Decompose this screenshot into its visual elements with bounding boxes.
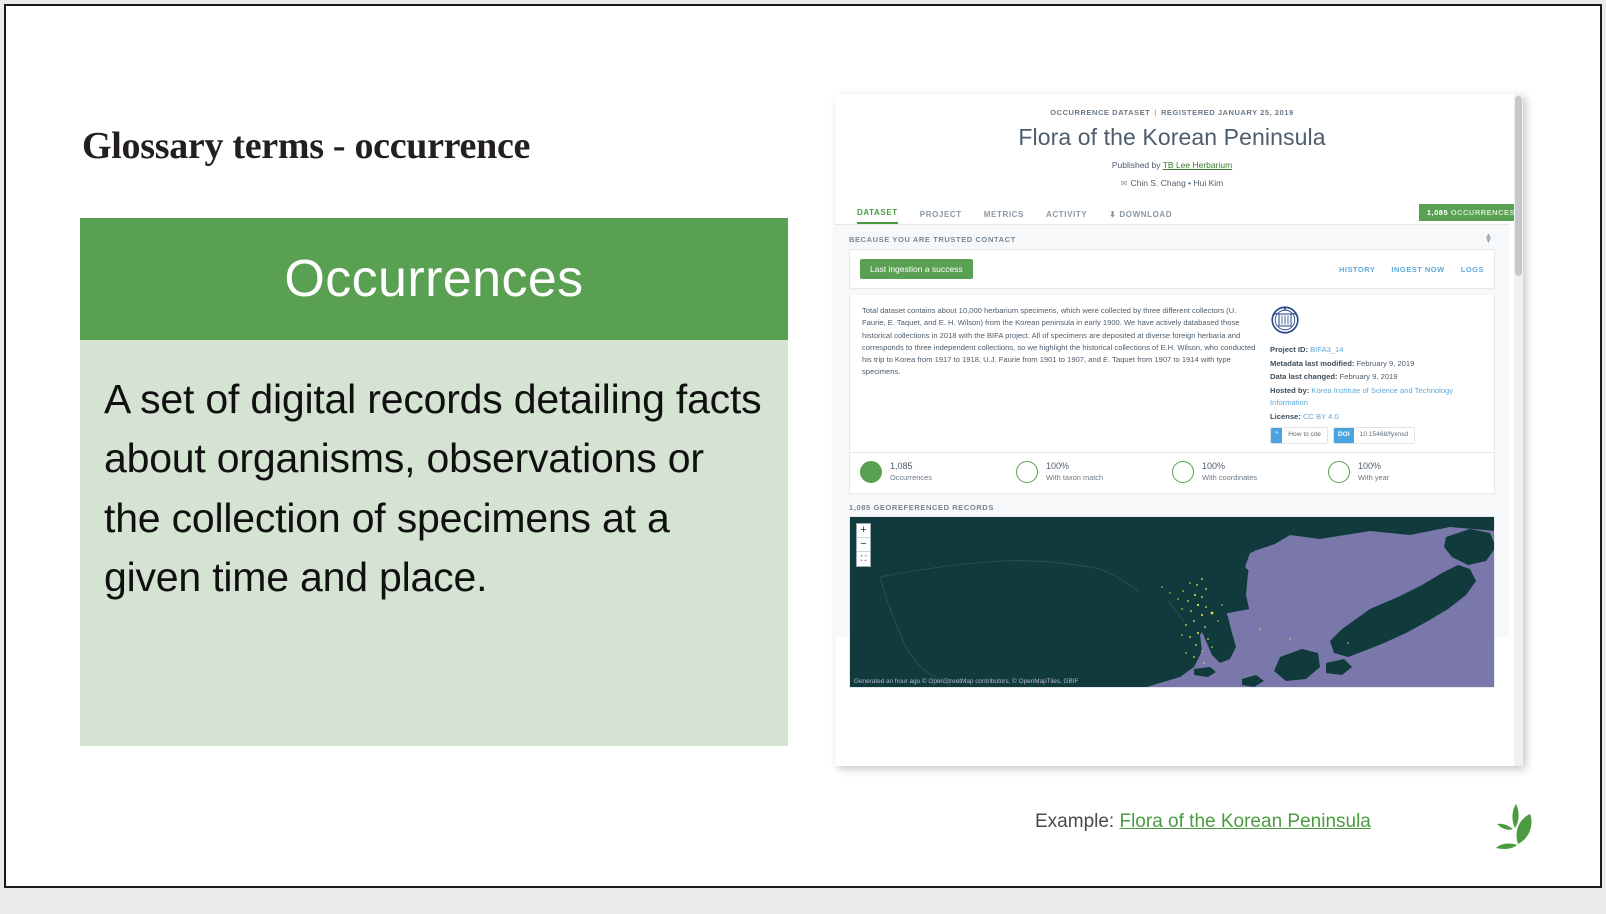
page-scrollbar[interactable] <box>1514 94 1523 766</box>
logs-button[interactable]: LOGS <box>1461 265 1484 274</box>
data-changed-value: February 9, 2019 <box>1340 372 1398 381</box>
dataset-metadata: Project ID: BIFA3_14 Metadata last modif… <box>1270 305 1482 444</box>
term-heading: Occurrences <box>284 249 583 309</box>
dataset-header: OCCURRENCE DATASET|REGISTERED JANUARY 25… <box>835 94 1509 188</box>
published-by-label: Published by <box>1112 160 1161 170</box>
example-caption: Example: Flora of the Korean Peninsula <box>1035 811 1371 833</box>
term-card-body: A set of digital records detailing facts… <box>80 340 788 746</box>
ingestion-status-pill: Last ingestion a success <box>860 259 973 279</box>
trusted-contact-label: BECAUSE YOU ARE TRUSTED CONTACT ▲▼ <box>849 235 1495 244</box>
stat-taxon-match: 100% With taxon match <box>1016 461 1172 483</box>
hosted-by-label: Hosted by: <box>1270 386 1309 395</box>
dataset-body: BECAUSE YOU ARE TRUSTED CONTACT ▲▼ Last … <box>835 225 1509 637</box>
project-id-label: Project ID: <box>1270 345 1308 354</box>
tab-activity[interactable]: ACTIVITY <box>1046 210 1087 224</box>
project-id-value[interactable]: BIFA3_14 <box>1310 345 1343 354</box>
metadata-modified-value: February 9, 2019 <box>1357 359 1415 368</box>
term-card-header: Occurrences <box>80 218 788 340</box>
doi-value: 10.15468/fyxnsd <box>1354 428 1414 442</box>
history-button[interactable]: HISTORY <box>1339 265 1375 274</box>
page-title: Glossary terms - occurrence <box>82 124 530 168</box>
how-to-cite-chip[interactable]: ” How to cite <box>1270 427 1328 443</box>
description-panel: Total dataset contains about 10,000 herb… <box>849 295 1495 453</box>
coordinates-gauge-icon <box>1172 461 1194 483</box>
quote-icon: ” <box>1271 428 1282 442</box>
contacts-line: ✉Chin S. Chang • Hui Kim <box>835 178 1509 188</box>
occurrence-count: 1,085 <box>1427 208 1448 217</box>
ingestion-panel: Last ingestion a success HISTORY INGEST … <box>849 249 1495 289</box>
occurrence-count-label: OCCURRENCES <box>1451 208 1515 217</box>
occurrences-gauge-icon <box>860 461 882 483</box>
publisher-link[interactable]: TB Lee Herbarium <box>1163 160 1232 170</box>
contact-names: Chin S. Chang • Hui Kim <box>1130 178 1223 188</box>
doi-tag: DOI <box>1334 428 1354 442</box>
stat-value: 100% <box>1202 461 1257 471</box>
gbif-leaf-logo <box>1484 798 1546 850</box>
stat-label: With coordinates <box>1202 473 1257 482</box>
dataset-tabbar: DATASET PROJECT METRICS ACTIVITY ⬇ DOWNL… <box>835 203 1509 225</box>
gbif-page: OCCURRENCE DATASET|REGISTERED JANUARY 25… <box>835 94 1509 766</box>
zoom-out-button[interactable]: − <box>857 538 870 552</box>
fullscreen-button[interactable]: ⛶ <box>857 552 870 566</box>
dataset-kicker: OCCURRENCE DATASET|REGISTERED JANUARY 25… <box>835 108 1509 117</box>
trusted-contact-text: BECAUSE YOU ARE TRUSTED CONTACT <box>849 235 1016 244</box>
tab-dataset[interactable]: DATASET <box>857 208 898 224</box>
kicker-separator: | <box>1154 108 1157 117</box>
data-changed-label: Data last changed: <box>1270 372 1338 381</box>
occurrence-count-badge[interactable]: 1,085 OCCURRENCES <box>1419 204 1523 221</box>
license-label: License: <box>1270 412 1301 421</box>
scrollbar-thumb[interactable] <box>1515 96 1522 276</box>
taxon-match-gauge-icon <box>1016 461 1038 483</box>
statistics-panel: 1,085 Occurrences 100% With taxon match <box>849 453 1495 494</box>
ingest-now-button[interactable]: INGEST NOW <box>1391 265 1444 274</box>
how-to-cite-label: How to cite <box>1282 428 1327 442</box>
map-attribution: Generated an hour ago © OpenStreetMap co… <box>854 678 1078 685</box>
stat-value: 100% <box>1046 461 1103 471</box>
example-label: Example: <box>1035 811 1114 832</box>
tab-download[interactable]: ⬇ DOWNLOAD <box>1109 210 1172 224</box>
ingestion-actions: HISTORY INGEST NOW LOGS <box>1339 265 1484 274</box>
data-changed-row: Data last changed: February 9, 2019 <box>1270 371 1482 383</box>
license-value[interactable]: CC BY 4.0 <box>1303 412 1339 421</box>
dataset-title: Flora of the Korean Peninsula <box>835 124 1509 151</box>
tab-project[interactable]: PROJECT <box>920 210 962 224</box>
collapse-toggle-icon[interactable]: ▲▼ <box>1484 233 1493 243</box>
occurrence-map[interactable]: + − ⛶ Generated an hour ago © OpenStreet… <box>849 516 1495 688</box>
stat-label: With taxon match <box>1046 473 1103 482</box>
published-by-line: Published by TB Lee Herbarium <box>835 160 1509 170</box>
envelope-icon: ✉ <box>1121 179 1128 188</box>
stat-value: 100% <box>1358 461 1389 471</box>
stat-occurrences: 1,085 Occurrences <box>860 461 1016 483</box>
zoom-in-button[interactable]: + <box>857 524 870 538</box>
organization-seal-icon <box>1270 305 1300 335</box>
metadata-modified-row: Metadata last modified: February 9, 2019 <box>1270 358 1482 370</box>
stat-label: With year <box>1358 473 1389 482</box>
license-row: License: CC BY 4.0 <box>1270 411 1482 423</box>
presentation-slide: Glossary terms - occurrence Occurrences … <box>4 4 1602 888</box>
registered-date: REGISTERED JANUARY 25, 2019 <box>1161 108 1294 117</box>
year-gauge-icon <box>1328 461 1350 483</box>
tab-metrics[interactable]: METRICS <box>984 210 1024 224</box>
dataset-type-label: OCCURRENCE DATASET <box>1050 108 1150 117</box>
citation-row: ” How to cite DOI 10.15468/fyxnsd <box>1270 427 1482 443</box>
metadata-modified-label: Metadata last modified: <box>1270 359 1354 368</box>
stat-coordinates: 100% With coordinates <box>1172 461 1328 483</box>
georeferenced-records-label: 1,085 GEOREFERENCED RECORDS <box>849 503 1495 512</box>
stat-label: Occurrences <box>890 473 932 482</box>
gbif-dataset-screenshot: OCCURRENCE DATASET|REGISTERED JANUARY 25… <box>835 94 1523 766</box>
term-definition: A set of digital records detailing facts… <box>104 370 764 608</box>
download-icon: ⬇ <box>1109 210 1116 219</box>
example-dataset-link[interactable]: Flora of the Korean Peninsula <box>1119 811 1370 832</box>
glossary-term-card: Occurrences A set of digital records det… <box>80 218 788 746</box>
map-zoom-controls[interactable]: + − ⛶ <box>856 523 871 567</box>
hosted-by-row: Hosted by: Korea Institute of Science an… <box>1270 385 1482 409</box>
tab-download-label: DOWNLOAD <box>1119 210 1172 219</box>
dataset-description: Total dataset contains about 10,000 herb… <box>862 305 1270 444</box>
stat-value: 1,085 <box>890 461 932 471</box>
project-id-row: Project ID: BIFA3_14 <box>1270 344 1482 356</box>
map-canvas <box>850 517 1495 688</box>
doi-chip[interactable]: DOI 10.15468/fyxnsd <box>1333 427 1415 443</box>
stat-year: 100% With year <box>1328 461 1484 483</box>
